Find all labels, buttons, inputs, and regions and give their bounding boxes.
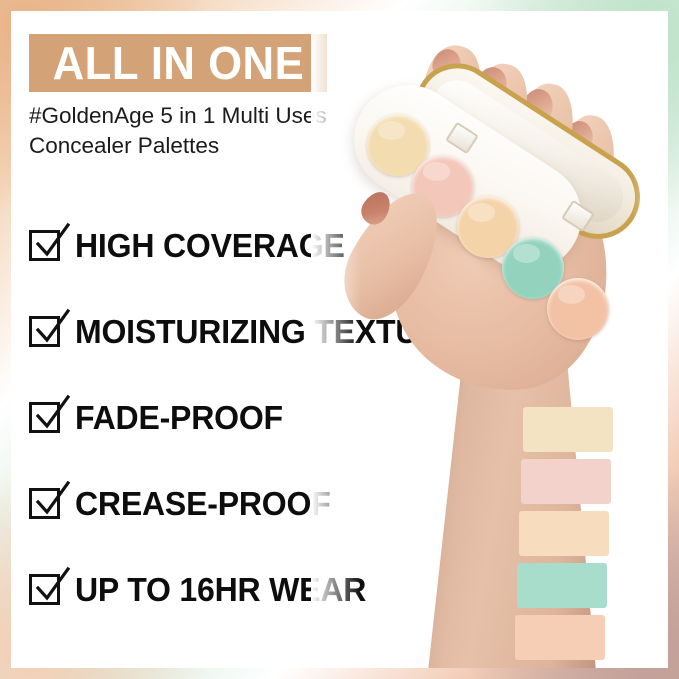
checklist-item-label: HIGH COVERAGE [75,229,345,262]
product-photo [311,11,668,668]
headline-badge: ALL IN ONE [29,34,327,92]
checkbox-checked-icon [29,402,60,433]
swatch-soft-pink [521,459,611,504]
checkbox-checked-icon [29,316,60,347]
checklist-item-label: FADE-PROOF [75,401,283,434]
marketing-image: ALL IN ONE #GoldenAge 5 in 1 Multi Uses … [0,0,679,679]
swatch-vanilla-cream [523,407,613,452]
palette-pan-warm-peach [547,278,609,340]
checkbox-checked-icon [29,574,60,605]
checkbox-checked-icon [29,230,60,261]
headline-badge-text: ALL IN ONE [52,40,304,86]
swatch-warm-peach [515,615,605,660]
content-card: ALL IN ONE #GoldenAge 5 in 1 Multi Uses … [11,11,668,668]
swatch-light-peach [519,511,609,556]
checklist-item-label: CREASE-PROOF [75,487,331,520]
swatch-mint-green [517,563,607,608]
checkbox-checked-icon [29,488,60,519]
